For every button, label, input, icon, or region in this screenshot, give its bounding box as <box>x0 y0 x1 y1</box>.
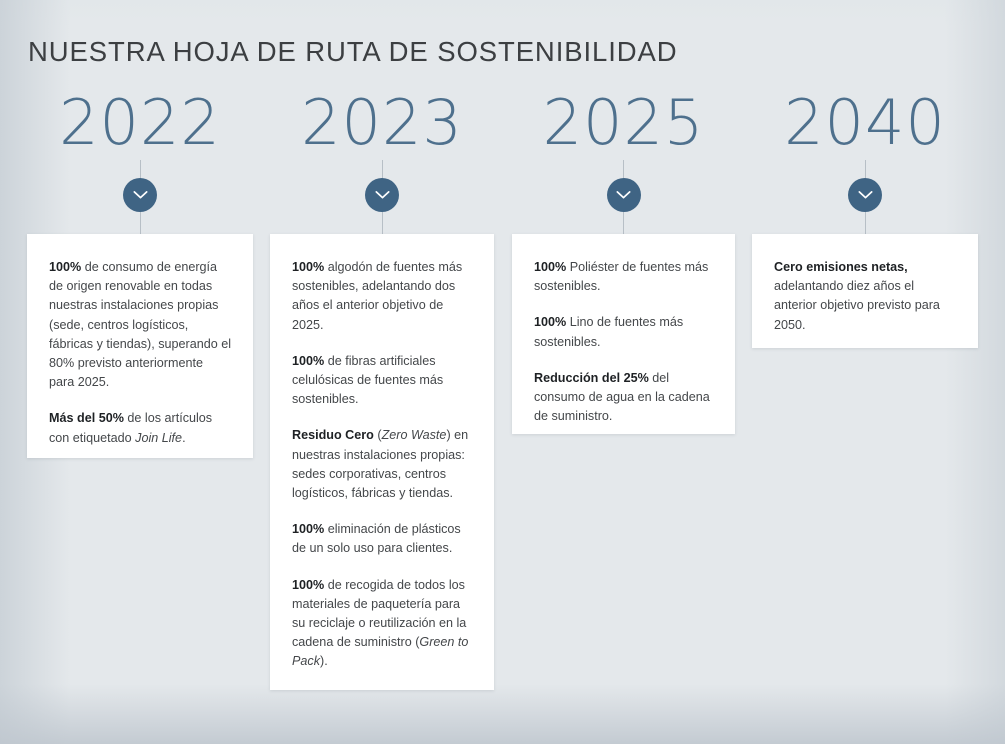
text-run-normal: ). <box>320 654 328 668</box>
text-run-normal: adelantando diez años el anterior objeti… <box>774 279 940 331</box>
milestone-paragraph: Reducción del 25% del consumo de agua en… <box>534 369 713 427</box>
milestone-card-2040: Cero emisiones netas, adelantando diez a… <box>752 234 978 348</box>
text-run-normal: de consumo de energía de origen renovabl… <box>49 260 231 389</box>
year-label-2040: 2040 <box>752 92 978 154</box>
milestone-paragraph: Más del 50% de los artículos con etiquet… <box>49 409 231 447</box>
chevron-down-icon <box>365 178 399 212</box>
milestone-paragraph: 100% de fibras artificiales celulósicas … <box>292 352 472 410</box>
text-run-bold: 100% <box>534 260 566 274</box>
milestone-paragraph: 100% Poliéster de fuentes más sostenible… <box>534 258 713 296</box>
milestone-paragraph: 100% Lino de fuentes más sostenibles. <box>534 313 713 351</box>
background-top-wash <box>0 0 1005 26</box>
text-run-bold: 100% <box>534 315 566 329</box>
text-run-bold: 100% <box>292 578 324 592</box>
year-label-2022: 2022 <box>27 92 253 154</box>
page-title: NUESTRA HOJA DE RUTA DE SOSTENIBILIDAD <box>28 36 678 68</box>
text-run-bold: Cero emisiones netas, <box>774 260 908 274</box>
year-label-2025: 2025 <box>512 92 735 154</box>
text-run-italic: Join Life <box>135 431 182 445</box>
text-run-bold: 100% <box>292 260 324 274</box>
text-run-normal: ( <box>374 428 382 442</box>
milestone-paragraph: 100% de recogida de todos los materiales… <box>292 576 472 672</box>
sustainability-roadmap-poster: NUESTRA HOJA DE RUTA DE SOSTENIBILIDAD 2… <box>0 0 1005 744</box>
text-run-bold: Residuo Cero <box>292 428 374 442</box>
chevron-down-icon <box>848 178 882 212</box>
milestone-card-2025: 100% Poliéster de fuentes más sostenible… <box>512 234 735 434</box>
text-run-normal: . <box>182 431 186 445</box>
milestone-card-2023: 100% algodón de fuentes más sostenibles,… <box>270 234 494 690</box>
chevron-down-icon <box>123 178 157 212</box>
text-run-bold: 100% <box>292 354 324 368</box>
text-run-bold: Más del 50% <box>49 411 124 425</box>
milestone-paragraph: 100% de consumo de energía de origen ren… <box>49 258 231 392</box>
background-bottom-wash <box>0 684 1005 744</box>
milestone-paragraph: 100% eliminación de plásticos de un solo… <box>292 520 472 558</box>
text-run-bold: 100% <box>292 522 324 536</box>
text-run-bold: 100% <box>49 260 81 274</box>
text-run-italic: Zero Waste <box>382 428 447 442</box>
milestone-paragraph: 100% algodón de fuentes más sostenibles,… <box>292 258 472 335</box>
year-label-2023: 2023 <box>270 92 494 154</box>
chevron-down-icon <box>607 178 641 212</box>
milestone-card-2022: 100% de consumo de energía de origen ren… <box>27 234 253 458</box>
milestone-paragraph: Cero emisiones netas, adelantando diez a… <box>774 258 956 335</box>
text-run-bold: Reducción del 25% <box>534 371 649 385</box>
milestone-paragraph: Residuo Cero (Zero Waste) en nuestras in… <box>292 426 472 503</box>
